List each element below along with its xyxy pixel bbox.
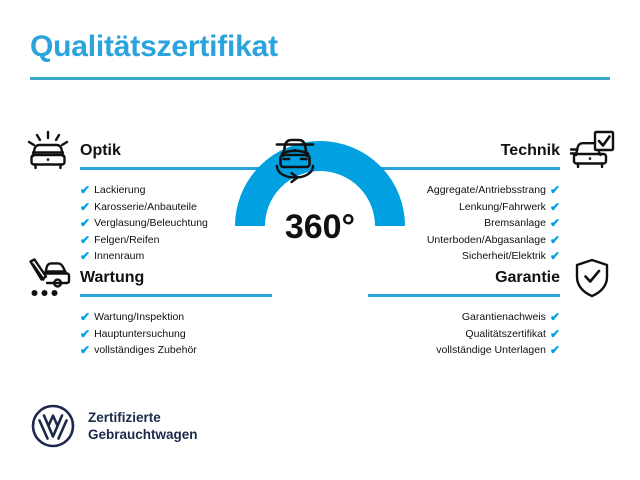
svg-text:Gebrauchtwagen-Check: Gebrauchtwagen-Check [249,244,392,304]
check-icon: ✔ [80,328,90,340]
check-icon: ✔ [80,217,90,229]
volkswagen-logo [30,403,76,449]
list-item: ✔ vollständiges Zubehör [80,342,280,359]
certificate-page: Qualitätszertifikat [0,0,640,480]
footer-brand: Zertifizierte Gebrauchtwagen [30,403,198,449]
header-divider [30,77,610,80]
shield-check-icon [566,255,618,301]
page-header: Qualitätszertifikat [30,30,610,80]
badge-arc-label: Gebrauchtwagen-Check [249,244,392,304]
list-item-label: Felgen/Reifen [94,232,159,249]
list-item-label: Hauptuntersuchung [94,326,186,343]
list-item-label: Qualitätszertifikat [465,326,546,343]
check-icon: ✔ [550,311,560,323]
page-title: Qualitätszertifikat [30,30,610,63]
badge-360-gebrauchtwagen-check: Gebrauchtwagen-Check 360° [232,122,408,312]
section-wartung-list: ✔ Wartung/Inspektion ✔ Hauptuntersuchung… [80,309,280,359]
list-item-label: Aggregate/Antriebsstrang [427,182,546,199]
check-icon: ✔ [550,201,560,213]
list-item-label: Karosserie/Anbauteile [94,199,197,216]
car-service-icon [22,255,74,301]
section-garantie-list: ✔ Garantienachweis ✔ Qualitätszertifikat… [360,309,560,359]
list-item-label: Lackierung [94,182,145,199]
footer-text: Zertifizierte Gebrauchtwagen [88,409,198,443]
check-icon: ✔ [80,234,90,246]
footer-line-2: Gebrauchtwagen [88,426,198,443]
footer-line-1: Zertifizierte [88,409,198,426]
check-icon: ✔ [80,344,90,356]
list-item-label: Wartung/Inspektion [94,309,184,326]
check-icon: ✔ [550,184,560,196]
list-item: ✔ Hauptuntersuchung [80,326,280,343]
check-icon: ✔ [80,201,90,213]
check-icon: ✔ [550,217,560,229]
list-item: ✔ Qualitätszertifikat [360,326,560,343]
check-icon: ✔ [80,184,90,196]
list-item-label: Garantienachweis [462,309,546,326]
check-icon: ✔ [80,311,90,323]
car-checkbox-icon [566,128,618,174]
list-item-label: vollständige Unterlagen [436,342,546,359]
badge-center-label: 360° [285,208,355,246]
list-item-label: Bremsanlage [484,215,546,232]
check-icon: ✔ [550,328,560,340]
check-icon: ✔ [550,344,560,356]
list-item-label: Unterboden/Abgasanlage [427,232,546,249]
clean-car-icon [22,128,74,174]
list-item-label: vollständiges Zubehör [94,342,197,359]
list-item-label: Lenkung/Fahrwerk [459,199,546,216]
check-icon: ✔ [550,234,560,246]
list-item: ✔ vollständige Unterlagen [360,342,560,359]
list-item-label: Verglasung/Beleuchtung [94,215,208,232]
